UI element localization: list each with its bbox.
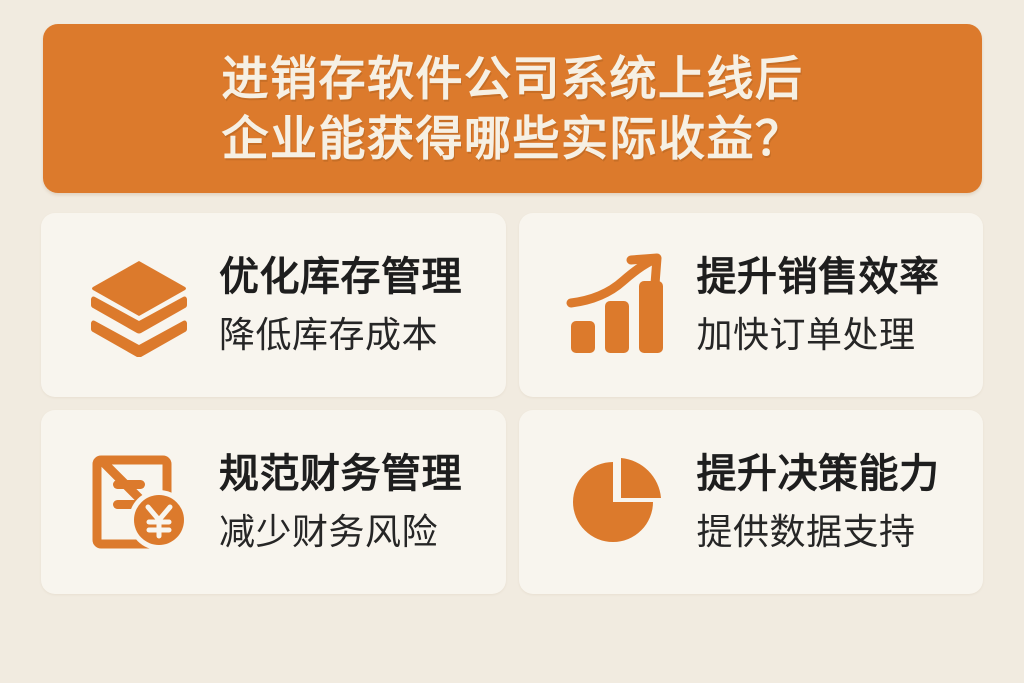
benefit-card-sales-text: 提升销售效率 加快订单处理 [697,254,940,356]
benefit-card-title: 提升决策能力 [697,451,940,498]
benefit-card-subtitle: 减少财务风险 [219,510,462,553]
benefit-card-title: 规范财务管理 [219,451,462,498]
benefit-card-subtitle: 加快订单处理 [697,313,940,356]
benefit-card-finance-text: 规范财务管理 减少财务风险 [219,451,462,553]
benefit-card-inventory-text: 优化库存管理 降低库存成本 [219,254,462,356]
invoice-yuan-icon [81,444,197,560]
benefit-card-decision[interactable]: 提升决策能力 提供数据支持 [519,410,984,594]
benefit-card-sales[interactable]: 提升销售效率 加快订单处理 [519,213,984,397]
benefit-card-decision-text: 提升决策能力 提供数据支持 [697,451,940,553]
pie-chart-icon [559,444,675,560]
benefit-card-inventory[interactable]: 优化库存管理 降低库存成本 [41,213,506,397]
benefit-card-subtitle: 降低库存成本 [219,313,462,356]
growth-bar-chart-icon [559,247,675,363]
benefit-card-subtitle: 提供数据支持 [697,510,940,553]
header-banner: 进销存软件公司系统上线后 企业能获得哪些实际收益？ [43,24,982,193]
benefit-card-title: 提升销售效率 [697,254,940,301]
benefit-card-finance[interactable]: 规范财务管理 减少财务风险 [41,410,506,594]
header-title-line-1: 进销存软件公司系统上线后 [222,49,804,108]
benefit-card-title: 优化库存管理 [219,254,462,301]
benefit-cards-grid: 优化库存管理 降低库存成本 提升销售效率 加快订单处理 [41,213,983,594]
header-title-line-2: 企业能获得哪些实际收益？ [222,109,804,168]
poster-canvas: 进销存软件公司系统上线后 企业能获得哪些实际收益？ 优化库存管理 降低库存成本 [0,0,1024,683]
layers-icon [81,247,197,363]
